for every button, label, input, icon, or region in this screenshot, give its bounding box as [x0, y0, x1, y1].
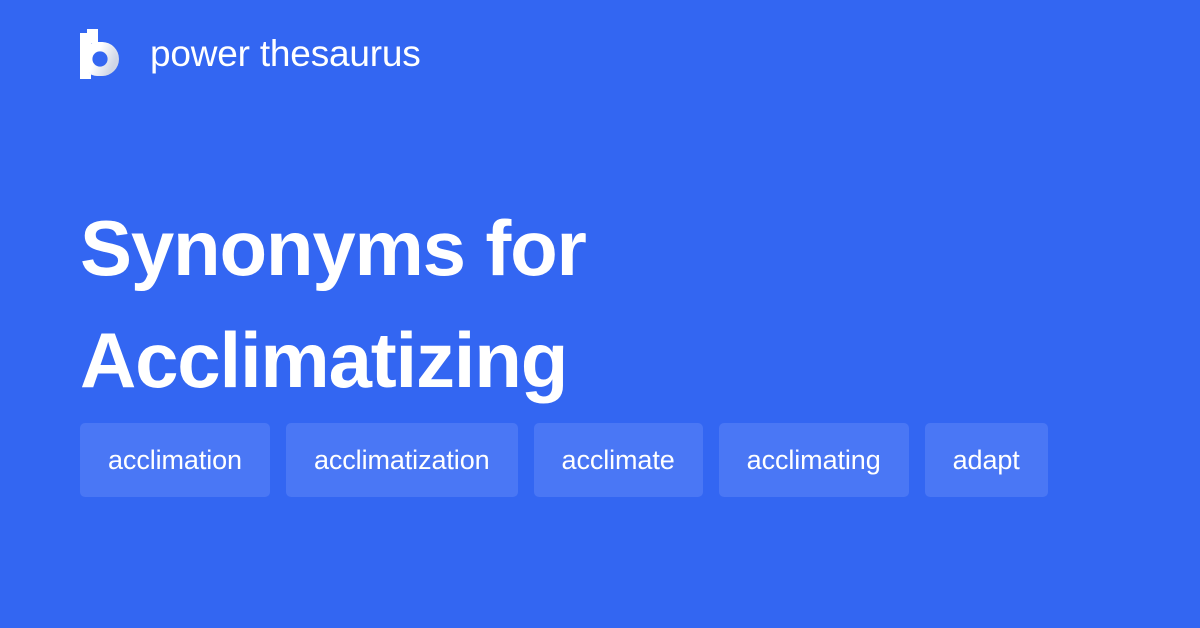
synonym-chip[interactable]: acclimatization	[286, 423, 518, 497]
brand-name: power thesaurus	[150, 29, 421, 79]
page-title: Synonyms for Acclimatizing	[80, 192, 1120, 416]
share-card: power thesaurus Synonyms for Acclimatizi…	[0, 0, 1200, 628]
page-title-line-2: Acclimatizing	[80, 304, 1120, 416]
synonym-chip[interactable]: acclimate	[534, 423, 703, 497]
power-thesaurus-b-logo-icon	[80, 29, 122, 79]
synonym-chip[interactable]: acclimating	[719, 423, 909, 497]
synonym-chip-list: acclimation acclimatization acclimate ac…	[80, 423, 1140, 497]
brand-header[interactable]: power thesaurus	[80, 26, 421, 82]
synonym-chip[interactable]: acclimation	[80, 423, 270, 497]
synonym-chip[interactable]: adapt	[925, 423, 1048, 497]
page-title-line-1: Synonyms for	[80, 192, 1120, 304]
